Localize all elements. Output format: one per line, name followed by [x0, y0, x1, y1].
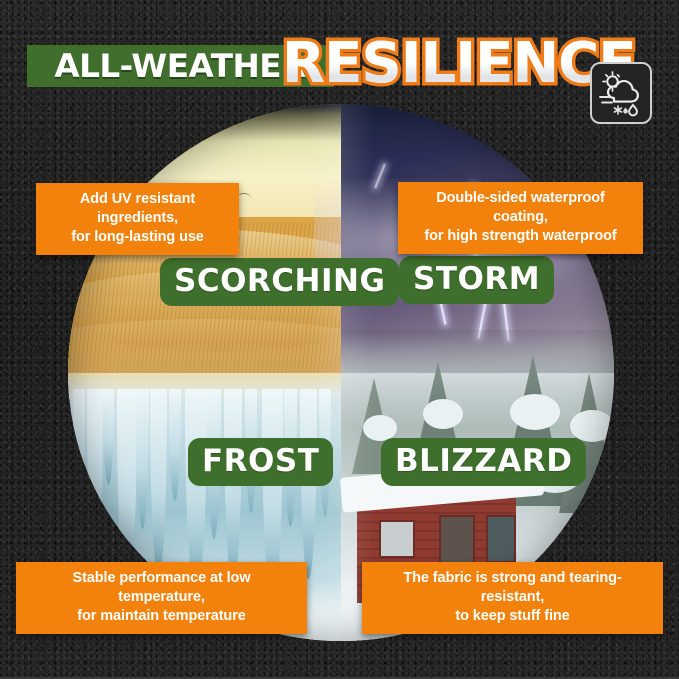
category-label-scorching: SCORCHING: [163, 261, 396, 303]
icicle: [136, 389, 149, 529]
icicle: [103, 389, 114, 485]
icicle: [150, 389, 167, 575]
icicle: [300, 389, 317, 579]
cabin-window-2: [486, 515, 516, 563]
snow-clump: [581, 485, 614, 523]
note-storm: Double-sided waterproof coating, for hig…: [398, 182, 643, 254]
icicle: [73, 389, 85, 509]
note-scorching: Add UV resistant ingredients, for long-l…: [36, 183, 239, 255]
icicle: [87, 389, 103, 565]
storm-horizon: [341, 330, 614, 373]
header: ALL-WEATHER RESILIENCE RESILIENCE: [0, 27, 679, 94]
poster-root: ALL-WEATHER RESILIENCE RESILIENCE: [0, 0, 679, 679]
icicle: [224, 389, 242, 585]
cabin-window: [379, 520, 414, 558]
note-blizzard: The fabric is strong and tearing-resista…: [362, 562, 663, 634]
snow-clump: [570, 410, 614, 442]
snow-clump: [510, 394, 560, 430]
category-label-frost: FROST: [191, 441, 330, 483]
icicle: [169, 389, 181, 501]
category-label-storm: STORM: [402, 259, 551, 301]
page-title-secondary: RESILIENCE: [282, 33, 636, 95]
category-label-blizzard: BLIZZARD: [384, 441, 583, 483]
note-frost: Stable performance at low temperature, f…: [16, 562, 307, 634]
